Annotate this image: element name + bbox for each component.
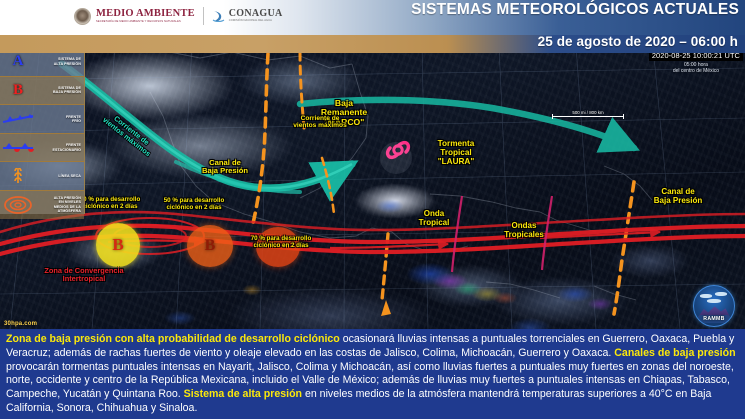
forecast-highlight-2: Canales de baja presión [614, 347, 735, 359]
letter-a-icon: A [0, 53, 36, 70]
agency-logos: MEDIO AMBIENTE SECRETARÍA DE MEDIO AMBIE… [74, 3, 283, 29]
legend-label-frente-frio: FRENTE FRÍO [36, 115, 84, 124]
rammb-logo: RAMMB [693, 285, 737, 327]
legend-item-frente-frio: FRENTE FRÍO [0, 105, 84, 134]
legend-label-frente-estacionario: FRENTE ESTACIONARIO [36, 143, 84, 152]
mid-level-high-icon [0, 195, 36, 215]
medio-ambiente-sublabel: SECRETARÍA DE MEDIO AMBIENTE Y RECURSOS … [96, 21, 195, 24]
forecast-highlight-4: Sistema de alta presión [184, 388, 302, 400]
watermark-label: 30hpa.com [4, 321, 37, 327]
scale-bar-label: 500 mi / 800 km [552, 110, 624, 115]
timestamp-local: 05:00 hora del centro de México [649, 62, 743, 75]
dry-line-icon [0, 168, 36, 184]
map-scale-bar: 500 mi / 800 km [552, 110, 624, 117]
rammb-globe-icon: RAMMB [693, 285, 735, 327]
legend-item-alta-niveles-medios: ALTA PRESIÓN EN NIVELES MEDIOS DE LA ATM… [0, 191, 84, 219]
page-header: MEDIO AMBIENTE SECRETARÍA DE MEDIO AMBIE… [0, 0, 745, 35]
legend-item-linea-seca: LÍNEA SECA [0, 162, 84, 191]
weather-map-screenshot: MEDIO AMBIENTE SECRETARÍA DE MEDIO AMBIE… [0, 0, 745, 419]
mexican-eagle-seal-icon [74, 8, 91, 25]
scale-bar-line [552, 116, 624, 117]
forecast-datetime: 25 de agosto de 2020 – 06:00 h [538, 34, 738, 49]
legend-label-alta-niveles-medios: ALTA PRESIÓN EN NIVELES MEDIOS DE LA ATM… [36, 196, 84, 214]
page-title: SISTEMAS METEOROLÓGICOS ACTUALES [411, 1, 739, 19]
medio-ambiente-label: MEDIO AMBIENTE [96, 9, 195, 20]
conagua-wave-icon [212, 9, 225, 23]
satellite-timestamp: 2020-08-25 10:00:21 UTC 05:00 hora del c… [649, 50, 743, 75]
satellite-map[interactable]: B B 70 % para desarrollo ciclónico en 2 … [0, 46, 745, 329]
letter-b-icon: B [0, 82, 36, 99]
stationary-front-icon [0, 142, 36, 154]
forecast-highlight-0: Zona de baja presión con alta probabilid… [6, 333, 340, 345]
legend-label-baja-presion: SISTEMA DE BAJA PRESIÓN [36, 86, 84, 95]
forecast-summary-panel: Zona de baja presión con alta probabilid… [0, 329, 745, 419]
legend-item-frente-estacionario: FRENTE ESTACIONARIO [0, 134, 84, 163]
logo-medio-ambiente: MEDIO AMBIENTE SECRETARÍA DE MEDIO AMBIE… [74, 8, 195, 25]
tropical-storm-symbol-layer [0, 46, 745, 329]
conagua-label: CONAGUA [229, 9, 283, 19]
conagua-sublabel: COMISIÓN NACIONAL DEL AGUA [229, 20, 283, 23]
legend-label-linea-seca: LÍNEA SECA [36, 174, 84, 178]
legend-item-baja-presion: B SISTEMA DE BAJA PRESIÓN [0, 77, 84, 106]
map-legend: A SISTEMA DE ALTA PRESIÓN B SISTEMA DE B… [0, 48, 85, 214]
logo-conagua: CONAGUA COMISIÓN NACIONAL DEL AGUA [212, 9, 283, 23]
cold-front-icon [0, 113, 36, 125]
rammb-label: RAMMB [694, 316, 734, 322]
legend-label-alta-presion: SISTEMA DE ALTA PRESIÓN [36, 57, 84, 66]
forecast-summary-text: Zona de baja presión con alta probabilid… [6, 333, 739, 416]
logo-divider [203, 7, 204, 25]
